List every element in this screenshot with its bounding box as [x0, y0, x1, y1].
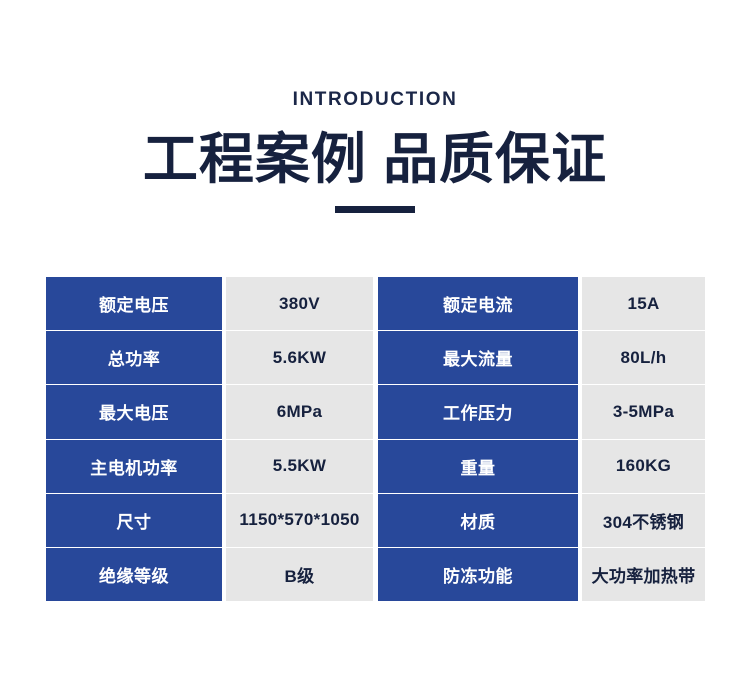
table-row: 尺寸 1150*570*1050	[46, 494, 373, 547]
spec-label: 总功率	[46, 331, 222, 384]
spec-value: 5.6KW	[226, 331, 373, 384]
table-row: 最大流量 80L/h	[378, 331, 705, 384]
spec-label: 最大流量	[378, 331, 578, 384]
table-row: 工作压力 3-5MPa	[378, 385, 705, 438]
spec-label: 绝缘等级	[46, 548, 222, 601]
spec-value: 1150*570*1050	[226, 494, 373, 547]
page-title: 工程案例 品质保证	[0, 128, 750, 190]
spec-value: 304不锈钢	[582, 494, 705, 547]
spec-label: 重量	[378, 440, 578, 493]
spec-label: 额定电流	[378, 277, 578, 330]
spec-table-right: 额定电流 15A 最大流量 80L/h 工作压力 3-5MPa 重量 160KG…	[378, 277, 705, 601]
spec-label: 尺寸	[46, 494, 222, 547]
table-row: 绝缘等级 B级	[46, 548, 373, 601]
spec-label: 额定电压	[46, 277, 222, 330]
table-row: 最大电压 6MPa	[46, 385, 373, 438]
spec-label: 防冻功能	[378, 548, 578, 601]
spec-value: 大功率加热带	[582, 548, 705, 601]
spec-label: 工作压力	[378, 385, 578, 438]
table-row: 额定电流 15A	[378, 277, 705, 330]
spec-label: 主电机功率	[46, 440, 222, 493]
table-row: 材质 304不锈钢	[378, 494, 705, 547]
spec-value: 3-5MPa	[582, 385, 705, 438]
spec-value: 15A	[582, 277, 705, 330]
table-row: 总功率 5.6KW	[46, 331, 373, 384]
spec-value: B级	[226, 548, 373, 601]
spec-label: 材质	[378, 494, 578, 547]
table-row: 重量 160KG	[378, 440, 705, 493]
spec-value: 160KG	[582, 440, 705, 493]
spec-value: 380V	[226, 277, 373, 330]
product-introduction-page: INTRODUCTION 工程案例 品质保证 额定电压 380V 总功率 5.6…	[0, 0, 750, 673]
spec-label: 最大电压	[46, 385, 222, 438]
table-row: 防冻功能 大功率加热带	[378, 548, 705, 601]
page-header: INTRODUCTION 工程案例 品质保证	[0, 88, 750, 213]
spec-value: 80L/h	[582, 331, 705, 384]
table-row: 额定电压 380V	[46, 277, 373, 330]
table-row: 主电机功率 5.5KW	[46, 440, 373, 493]
spec-value: 5.5KW	[226, 440, 373, 493]
spec-table-left: 额定电压 380V 总功率 5.6KW 最大电压 6MPa 主电机功率 5.5K…	[46, 277, 373, 601]
section-eyebrow: INTRODUCTION	[0, 88, 750, 112]
specification-tables: 额定电压 380V 总功率 5.6KW 最大电压 6MPa 主电机功率 5.5K…	[46, 277, 705, 601]
title-divider	[335, 206, 415, 213]
spec-value: 6MPa	[226, 385, 373, 438]
